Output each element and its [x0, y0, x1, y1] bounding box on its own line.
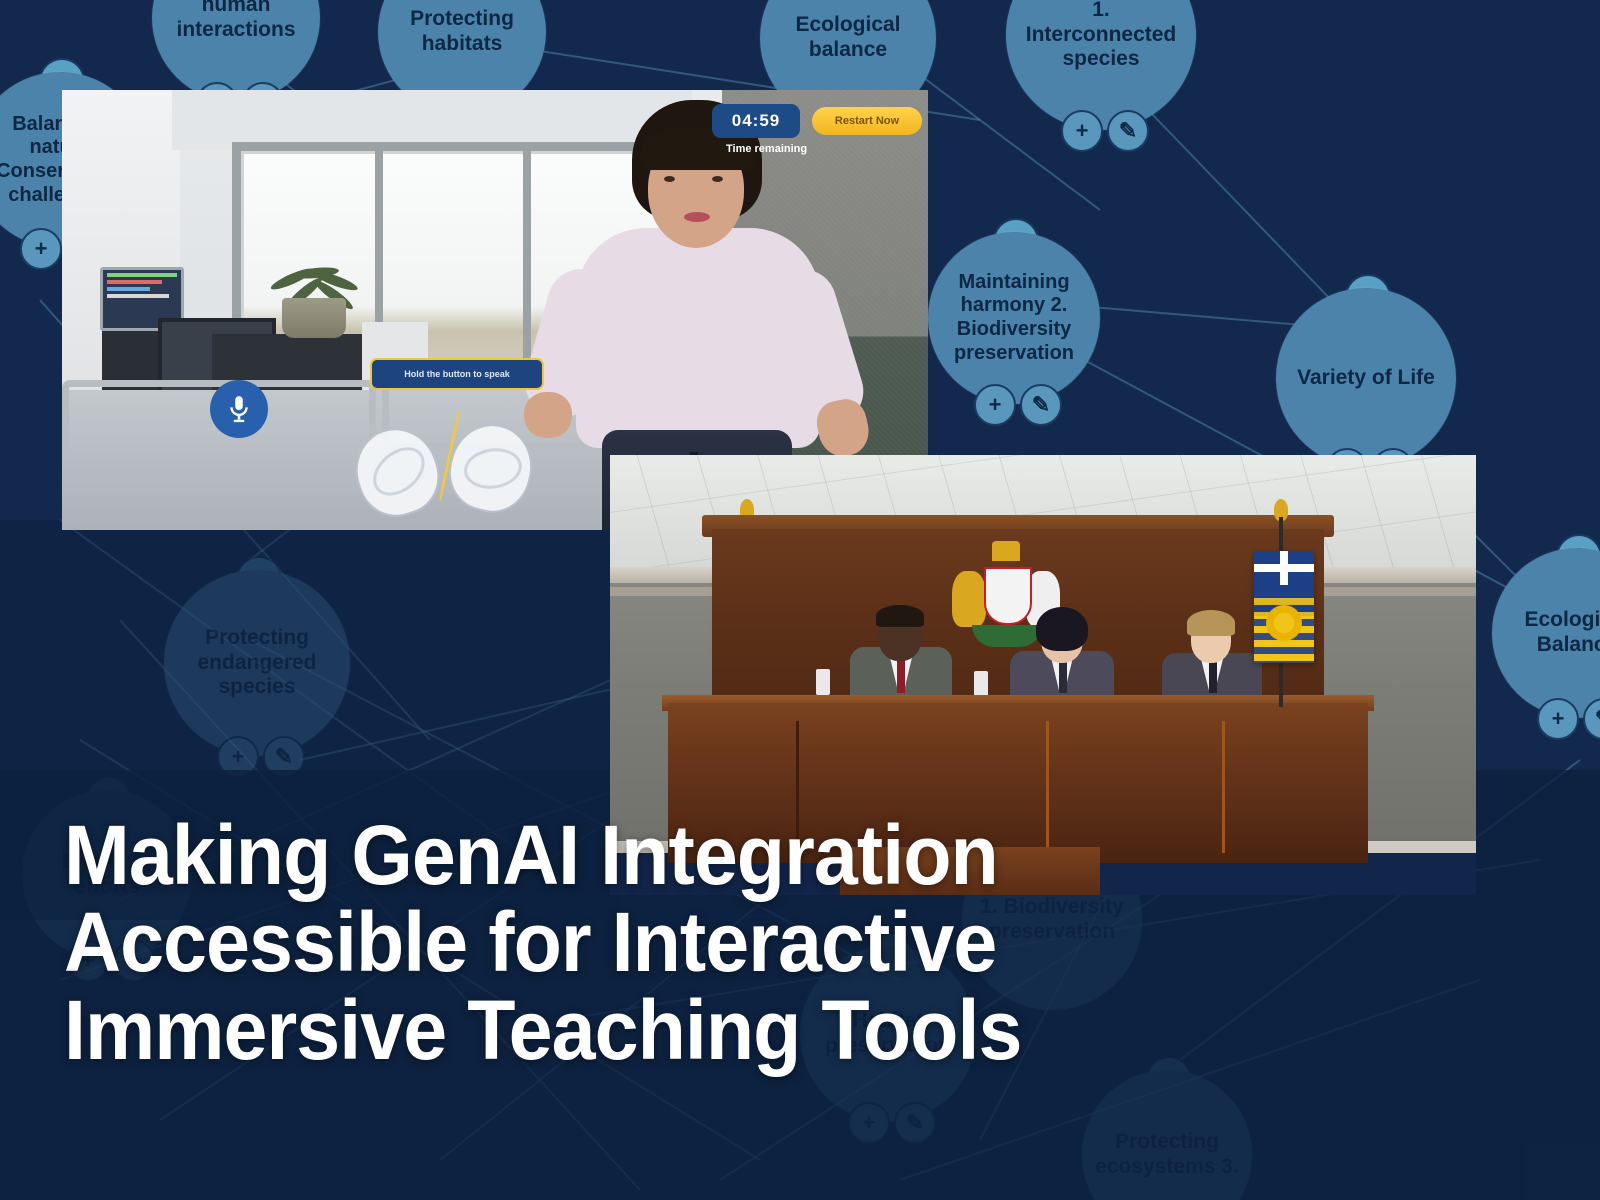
concept-node[interactable]: 1. Interconnected species+✎ — [1006, 0, 1196, 176]
crown-emblem — [992, 541, 1020, 561]
concept-node-label: human interactions — [152, 0, 320, 43]
avatar-eye — [664, 176, 675, 182]
slide-canvas: human interactions+✎!Balancing nature Co… — [0, 0, 1600, 1200]
page-title: Making GenAI Integration Accessible for … — [64, 812, 1164, 1074]
title-line-1: Making GenAI Integration — [64, 812, 1098, 899]
concept-node-label: Ecological Balance — [1492, 608, 1600, 658]
bench-microphone — [974, 671, 988, 697]
concept-node-label: Variety of Life — [1287, 366, 1445, 391]
concept-node-circle[interactable]: Maintaining harmony 2. Biodiversity pres… — [928, 232, 1100, 404]
plus-icon[interactable]: + — [974, 384, 1016, 426]
session-hud: 04:59 Restart Now Time remaining — [712, 104, 922, 155]
pencil-icon[interactable]: ✎ — [1583, 698, 1600, 740]
concept-node-label: 1. Interconnected species — [1006, 0, 1196, 72]
british-columbia-flag — [1254, 551, 1314, 663]
speak-tooltip: Hold the button to speak — [370, 358, 544, 390]
restart-now-button[interactable]: Restart Now — [812, 107, 922, 135]
pencil-icon[interactable]: ✎ — [1107, 110, 1149, 152]
timer-value: 04:59 — [712, 104, 800, 138]
union-jack-canton — [1254, 551, 1314, 585]
concept-node-actions[interactable]: +✎ — [1537, 698, 1600, 740]
concept-node-actions[interactable]: +✎ — [974, 384, 1062, 426]
lion-supporter — [952, 571, 986, 627]
concept-node-circle[interactable]: Ecological Balance — [1492, 548, 1600, 718]
concept-node-label: Protecting habitats — [378, 7, 546, 57]
concept-node-circle[interactable]: Variety of Life — [1276, 288, 1456, 468]
plus-icon[interactable]: + — [1537, 698, 1579, 740]
timer-caption: Time remaining — [726, 143, 922, 155]
controller-ring — [364, 437, 434, 505]
bc-setting-sun — [1266, 605, 1302, 641]
concept-node[interactable]: !Maintaining harmony 2. Biodiversity pre… — [928, 232, 1100, 450]
controller-ring — [461, 445, 524, 493]
concept-node-label: Ecological balance — [760, 13, 936, 63]
concept-node[interactable]: !Ecological Balance+✎ — [1492, 548, 1600, 764]
avatar-left-hand — [524, 392, 572, 438]
avatar-lips — [684, 212, 710, 222]
bench-microphone — [816, 669, 830, 695]
title-line-3: Immersive Teaching Tools — [64, 987, 1098, 1074]
title-line-2: Accessible for Interactive — [64, 899, 1098, 986]
pencil-icon[interactable]: ✎ — [1020, 384, 1062, 426]
avatar-eye — [712, 176, 723, 182]
concept-node-label: Maintaining harmony 2. Biodiversity pres… — [928, 271, 1100, 365]
microphone-icon — [226, 394, 252, 424]
plant-pot — [282, 298, 346, 338]
bench-panel-seam — [1222, 721, 1225, 853]
plus-icon[interactable]: + — [20, 228, 62, 270]
concept-node-actions[interactable]: +✎ — [1061, 110, 1149, 152]
microphone-button[interactable] — [210, 380, 268, 438]
plus-icon[interactable]: + — [1061, 110, 1103, 152]
